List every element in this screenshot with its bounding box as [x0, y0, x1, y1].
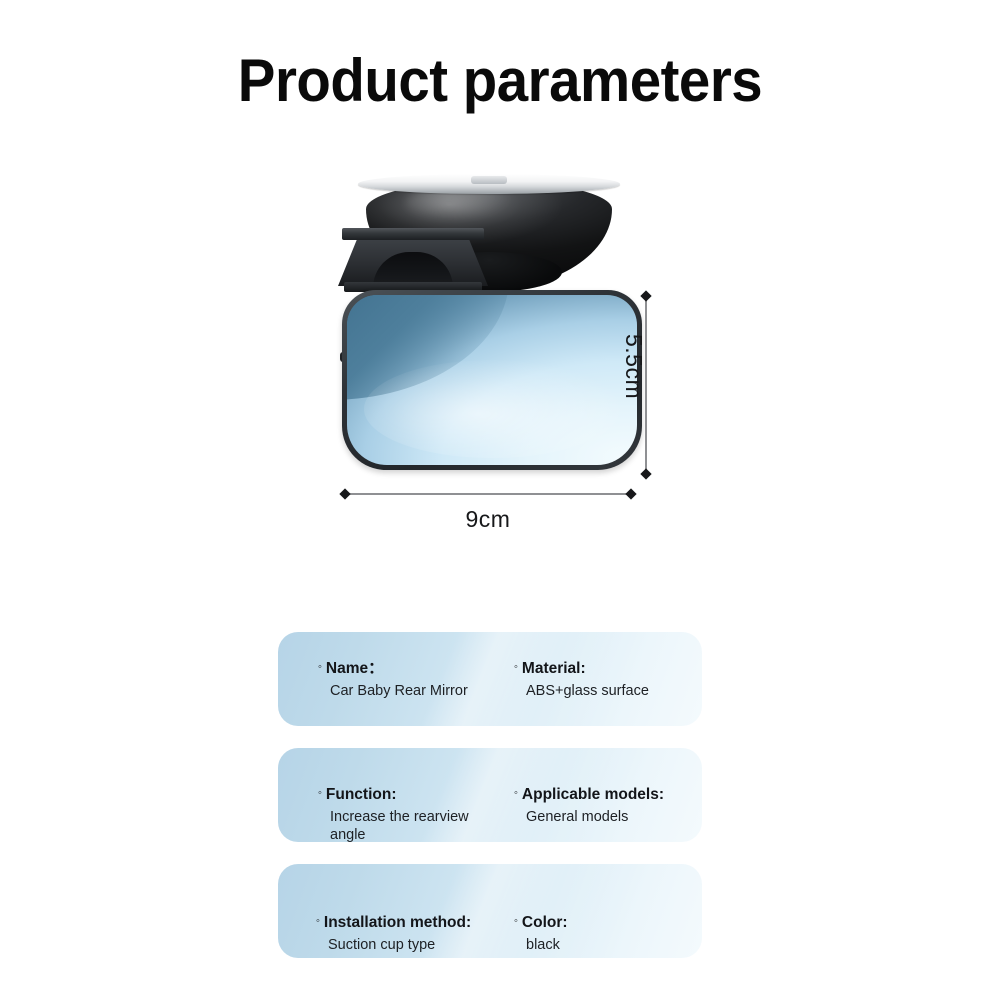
- spec-field: ◦Color: black: [496, 914, 702, 954]
- spec-field: ◦Function: Increase the rearview angle: [278, 786, 496, 842]
- spec-label-text: Material:: [522, 660, 586, 677]
- spec-label-text: Function:: [326, 786, 397, 803]
- width-dimension-line: [345, 493, 631, 495]
- spec-value: ABS+glass surface: [514, 682, 702, 701]
- bracket-top-plate: [342, 228, 484, 240]
- spec-value: General models: [514, 808, 702, 827]
- height-dimension-label: 5.5cm: [620, 334, 647, 399]
- bullet-icon: ◦: [318, 662, 322, 673]
- spec-label-text: Color:: [522, 914, 568, 931]
- bullet-icon: ◦: [514, 788, 518, 799]
- spec-field: ◦Installation method: Suction cup type: [278, 914, 496, 954]
- mount-bracket: [338, 228, 488, 286]
- bullet-icon: ◦: [316, 916, 320, 927]
- spec-label: ◦Material:: [514, 660, 702, 678]
- bullet-icon: ◦: [318, 788, 322, 799]
- spec-value: Suction cup type: [316, 936, 496, 955]
- spec-label: ◦Function:: [318, 786, 496, 804]
- spec-label: ◦Applicable models:: [514, 786, 702, 804]
- product-parameters-page: Product parameters 5.5cm 9c: [0, 0, 1000, 1000]
- mirror-bezel: [342, 290, 642, 470]
- spec-card: ◦Name： Car Baby Rear Mirror ◦Material: A…: [278, 632, 702, 726]
- spec-label-text: Installation method:: [324, 914, 471, 931]
- spec-field: ◦Applicable models: General models: [496, 786, 702, 826]
- page-title: Product parameters: [30, 48, 970, 114]
- spec-field: ◦Name： Car Baby Rear Mirror: [278, 660, 496, 700]
- spec-card: ◦Function: Increase the rearview angle ◦…: [278, 748, 702, 842]
- spec-label-text: Name：: [326, 660, 384, 677]
- spec-field: ◦Material: ABS+glass surface: [496, 660, 702, 700]
- spec-card-list: ◦Name： Car Baby Rear Mirror ◦Material: A…: [278, 632, 702, 980]
- spec-label: ◦Color:: [514, 914, 702, 932]
- suction-cup-rim-plate: [358, 174, 620, 194]
- spec-label: ◦Name：: [318, 660, 496, 678]
- bullet-icon: ◦: [514, 662, 518, 673]
- mirror-glass: [347, 295, 637, 465]
- spec-value: Increase the rearview angle: [318, 808, 496, 842]
- width-dimension-label: 9cm: [345, 506, 631, 533]
- suction-cup-release-tab: [471, 176, 507, 184]
- spec-label-text: Applicable models:: [522, 786, 664, 803]
- spec-label: ◦Installation method:: [316, 914, 496, 932]
- spec-value: Car Baby Rear Mirror: [318, 682, 496, 701]
- spec-value: black: [514, 936, 702, 955]
- spec-card: ◦Installation method: Suction cup type ◦…: [278, 864, 702, 958]
- bullet-icon: ◦: [514, 916, 518, 927]
